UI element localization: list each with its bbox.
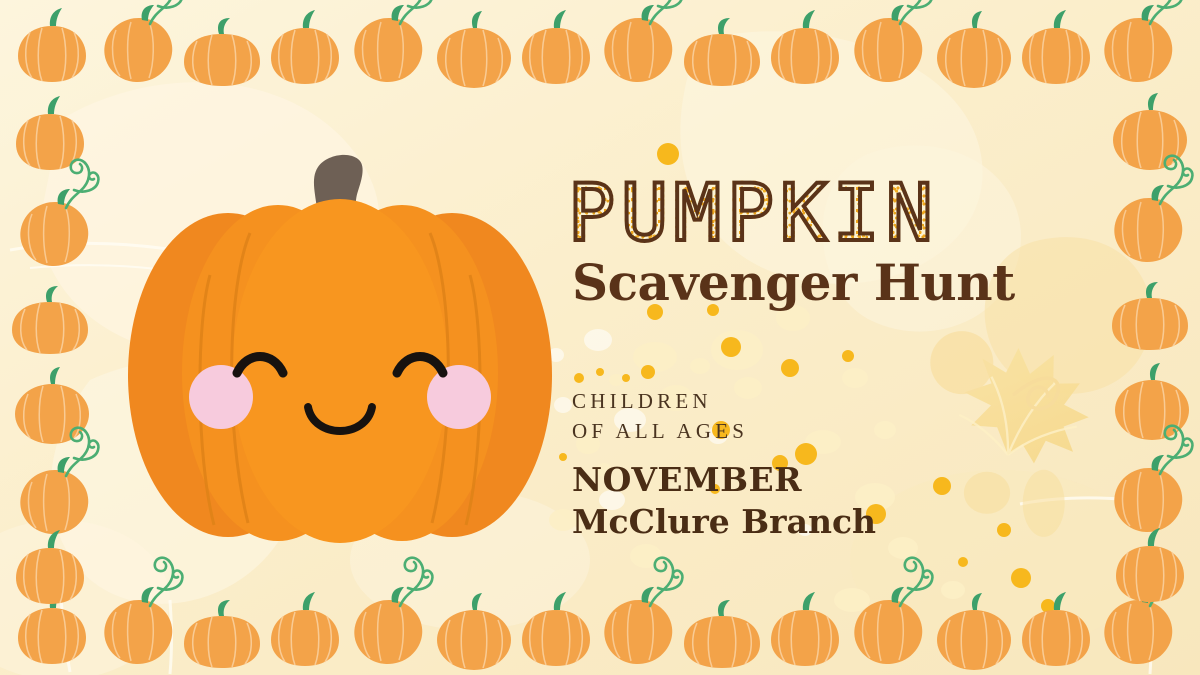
poster-canvas: PUMPKIN Scavenger Hunt CHILDREN OF ALL A… (0, 0, 1200, 675)
event-location: McClure Branch (572, 503, 1088, 541)
pumpkin-lobe-center (232, 199, 448, 543)
audience-note: CHILDREN OF ALL AGES (572, 387, 1088, 447)
border-right (1110, 93, 1192, 602)
audience-line-1: CHILDREN (572, 387, 1088, 417)
title-scavenger-hunt: Scavenger Hunt (572, 257, 1088, 309)
cheek-right (427, 365, 491, 429)
title-pumpkin: PUMPKIN (568, 175, 1088, 253)
border-left (12, 96, 98, 604)
audience-line-2: OF ALL AGES (572, 417, 1088, 447)
event-month: NOVEMBER (572, 461, 1088, 499)
border-top (18, 0, 1182, 88)
smiling-pumpkin-illustration (110, 125, 570, 575)
cheek-left (189, 365, 253, 429)
poster-text-block: PUMPKIN Scavenger Hunt CHILDREN OF ALL A… (568, 175, 1088, 525)
